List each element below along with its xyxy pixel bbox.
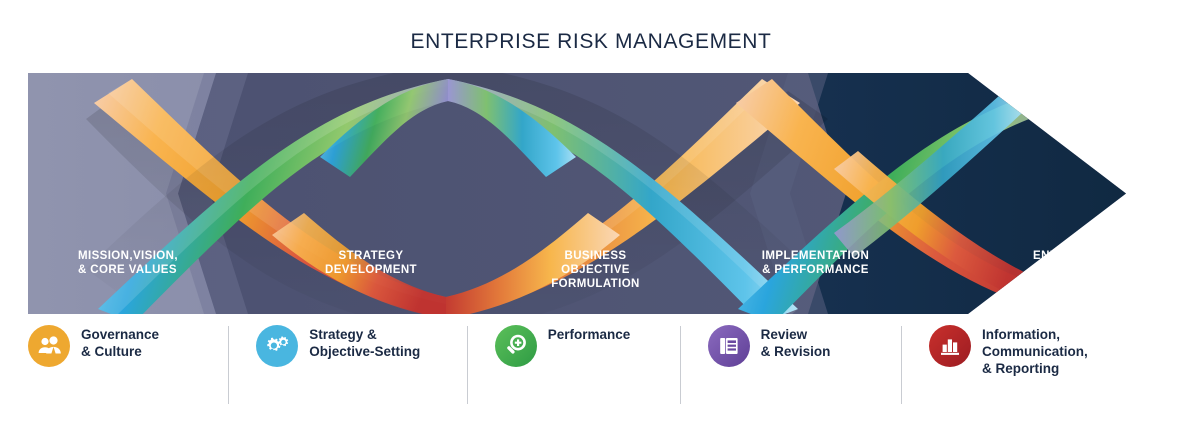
document-list-icon <box>716 333 742 359</box>
erm-banner: MISSION,VISION, & CORE VALUES STRATEGY D… <box>28 73 1126 314</box>
bar-chart-icon <box>937 333 963 359</box>
magnifier-plus-icon-badge <box>495 325 537 367</box>
legend-label-governance-culture: Governance & Culture <box>81 324 159 360</box>
magnifier-plus-icon <box>503 333 529 359</box>
legend-item-governance-culture[interactable]: Governance & Culture <box>28 324 228 367</box>
legend-label-performance: Performance <box>548 324 631 343</box>
legend-item-strategy-objective-setting[interactable]: Strategy & Objective-Setting <box>228 324 466 367</box>
gears-icon-badge <box>256 325 298 367</box>
legend-item-review-revision[interactable]: Review & Revision <box>680 324 901 367</box>
bar-chart-icon-badge <box>929 325 971 367</box>
people-icon <box>36 333 62 359</box>
legend-label-information-communication-reporting: Information, Communication, & Reporting <box>982 324 1088 377</box>
legend-item-information-communication-reporting[interactable]: Information, Communication, & Reporting <box>901 324 1148 377</box>
legend-label-review-revision: Review & Revision <box>761 324 831 360</box>
component-legend: Governance & Culture Strategy & Objectiv… <box>28 324 1148 424</box>
banner-graphic <box>28 73 1126 314</box>
people-icon-badge <box>28 325 70 367</box>
gears-icon <box>263 333 291 359</box>
page-title: ENTERPRISE RISK MANAGEMENT <box>0 30 1182 54</box>
legend-label-strategy-objective-setting: Strategy & Objective-Setting <box>309 324 420 360</box>
legend-item-performance[interactable]: Performance <box>467 324 680 367</box>
document-list-icon-badge <box>708 325 750 367</box>
